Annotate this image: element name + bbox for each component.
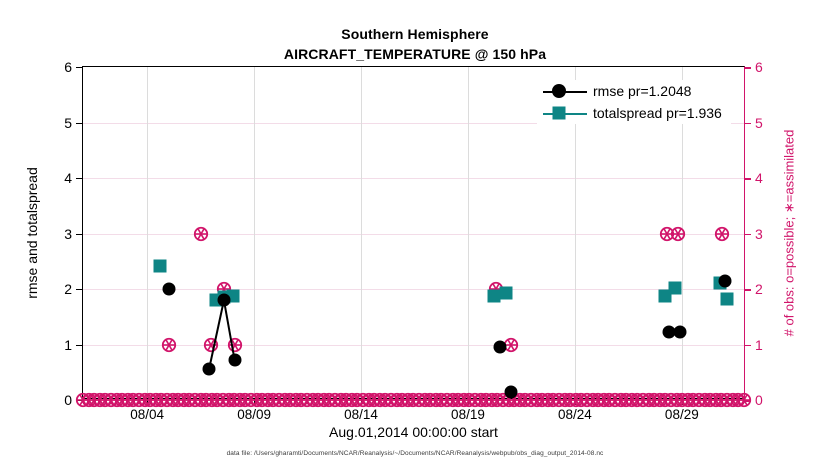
rmse-connector — [208, 300, 225, 370]
rmse-marker — [494, 341, 507, 354]
gridline-horizontal — [83, 345, 744, 346]
rmse-marker — [162, 283, 175, 296]
legend-marker-circle — [552, 84, 566, 98]
y-tick-right — [744, 67, 751, 69]
rmse-marker — [504, 385, 517, 398]
legend-label: totalspread pr=1.936 — [593, 102, 722, 124]
y-tick-label-right: 0 — [755, 392, 763, 408]
y-tick-right — [744, 178, 751, 180]
y-tick-right — [744, 289, 751, 291]
y-tick-label-right: 2 — [755, 281, 763, 297]
y-tick-left — [76, 289, 83, 290]
y-tick-label-right: 3 — [755, 226, 763, 242]
y-tick-label-left: 2 — [64, 281, 72, 297]
y-tick-label-right: 4 — [755, 170, 763, 186]
rmse-marker — [203, 363, 216, 376]
chart-title: Southern Hemisphere AIRCRAFT_TEMPERATURE… — [0, 24, 830, 64]
y-tick-right — [744, 234, 751, 236]
gridline-vertical — [147, 67, 148, 398]
rmse-marker — [718, 274, 731, 287]
totalspread-marker — [669, 281, 682, 294]
totalspread-marker — [487, 289, 500, 302]
title-line-1: Southern Hemisphere — [0, 24, 830, 44]
legend-entry[interactable]: rmse pr=1.2048 — [537, 80, 731, 102]
title-line-2: AIRCRAFT_TEMPERATURE @ 150 hPa — [0, 44, 830, 64]
rmse-marker — [218, 294, 231, 307]
y-tick-left — [76, 123, 83, 124]
y-tick-left — [76, 178, 83, 179]
obs-marker — [193, 226, 208, 241]
legend-marker-square — [553, 107, 566, 120]
legend-entry[interactable]: totalspread pr=1.936 — [537, 102, 731, 124]
y-tick-label-right: 1 — [755, 337, 763, 353]
y-tick-left — [76, 345, 83, 346]
y-tick-label-left: 3 — [64, 226, 72, 242]
gridline-horizontal — [83, 178, 744, 179]
gridline-vertical — [468, 67, 469, 398]
x-tick-label: 08/14 — [344, 407, 378, 422]
y-tick-label-left: 4 — [64, 170, 72, 186]
y-tick-right — [744, 123, 751, 125]
obs-marker — [715, 226, 730, 241]
y-tick-left — [76, 234, 83, 235]
y-axis-left-title: rmse and totalspread — [22, 66, 42, 399]
x-tick-label: 08/04 — [130, 407, 164, 422]
legend-label: rmse pr=1.2048 — [593, 80, 691, 102]
totalspread-marker — [720, 292, 733, 305]
gridline-vertical — [361, 67, 362, 398]
chart-figure: Southern Hemisphere AIRCRAFT_TEMPERATURE… — [0, 0, 830, 470]
x-tick-label: 08/24 — [558, 407, 592, 422]
y-tick-label-left: 6 — [64, 59, 72, 75]
totalspread-marker — [500, 287, 513, 300]
gridline-vertical — [254, 67, 255, 398]
y-axis-right-title: # of obs: o=possible; ∗=assimilated — [779, 66, 799, 399]
y-tick-label-left: 1 — [64, 337, 72, 353]
y-tick-right — [744, 345, 751, 347]
rmse-marker — [228, 354, 241, 367]
y-tick-label-right: 6 — [755, 59, 763, 75]
obs-marker — [161, 337, 176, 352]
y-tick-label-left: 5 — [64, 115, 72, 131]
data-file-footer: data file: /Users/gharamti/Documents/NCA… — [0, 450, 830, 457]
y-tick-left — [76, 67, 83, 68]
y-tick-label-left: 0 — [64, 392, 72, 408]
obs-marker-baseline — [736, 393, 751, 408]
obs-marker — [670, 226, 685, 241]
chart-legend: rmse pr=1.2048totalspread pr=1.936 — [537, 80, 731, 124]
y-tick-label-right: 5 — [755, 115, 763, 131]
x-tick-label: 08/29 — [665, 407, 699, 422]
x-tick-label: 08/09 — [237, 407, 271, 422]
rmse-marker — [673, 326, 686, 339]
totalspread-marker — [153, 259, 166, 272]
x-tick-label: 08/19 — [451, 407, 485, 422]
gridline-horizontal — [83, 234, 744, 235]
x-axis-title: Aug.01,2014 00:00:00 start — [82, 424, 745, 440]
gridline-horizontal — [83, 289, 744, 290]
